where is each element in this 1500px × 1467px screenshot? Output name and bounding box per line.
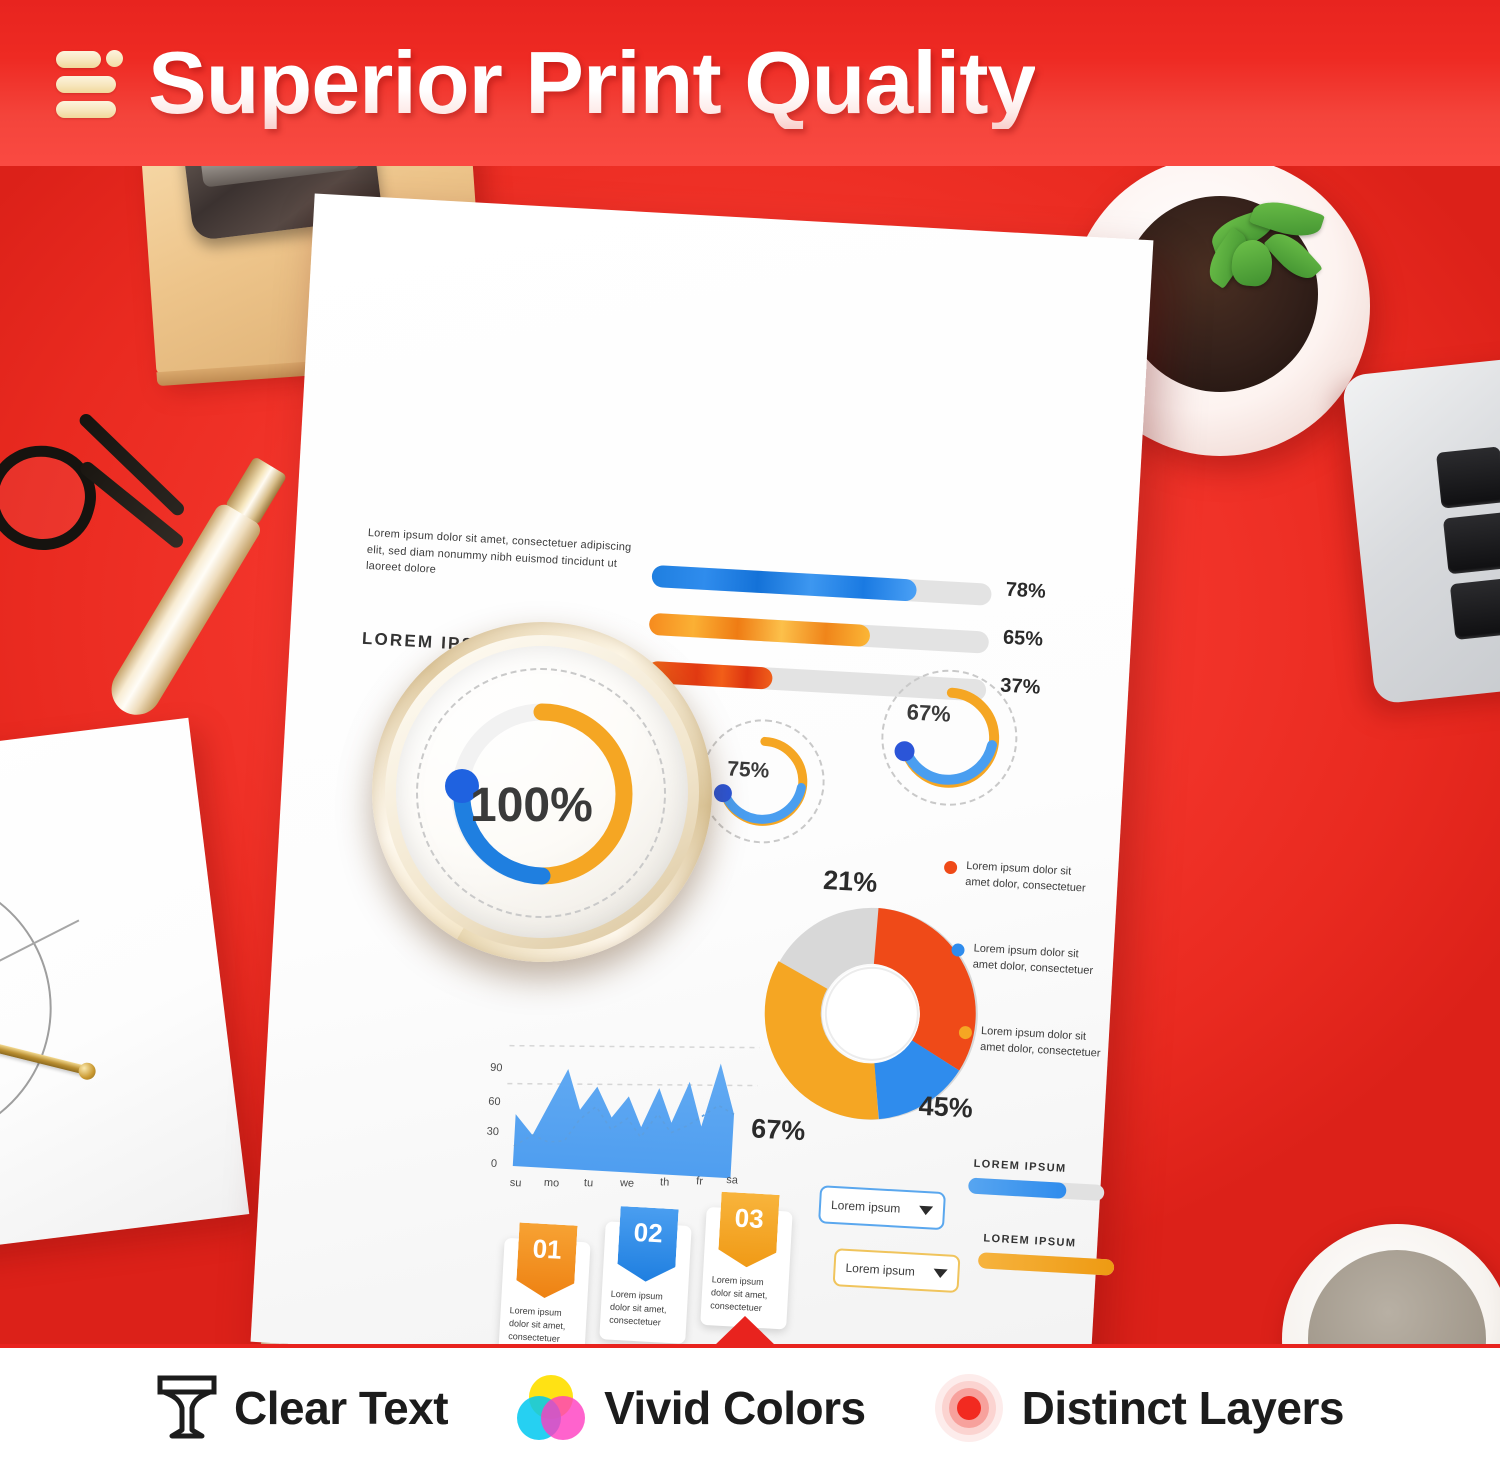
legend-color-swatch xyxy=(951,943,965,957)
concentric-rings-icon xyxy=(932,1371,1006,1445)
dropdown-lorem-amber[interactable]: Lorem ipsum xyxy=(833,1248,961,1293)
dropdown-lorem-blue[interactable]: Lorem ipsum xyxy=(818,1185,946,1230)
legend-color-swatch xyxy=(959,1026,973,1040)
text-t-icon xyxy=(156,1374,218,1442)
progress-bar-row xyxy=(651,565,992,606)
slider-track[interactable] xyxy=(978,1252,1115,1276)
step-card: 03 Lorem ipsum dolor sit amet, consectet… xyxy=(700,1207,792,1330)
dropdown-value: Lorem ipsum xyxy=(831,1198,901,1216)
svg-text:sa: sa xyxy=(726,1174,739,1187)
progress-bar-label: 65% xyxy=(1002,627,1043,652)
step-card-number: 03 xyxy=(718,1192,780,1269)
legend-item: Lorem ipsum dolor sit amet dolor, consec… xyxy=(958,1023,1110,1063)
weekly-area-chart: 90 60 30 0 su mo tu we th fr sa xyxy=(471,1004,782,1220)
coffee-cup xyxy=(1282,1224,1500,1348)
step-card-number: 02 xyxy=(617,1206,679,1283)
feature-label: Clear Text xyxy=(234,1381,448,1435)
svg-text:tu: tu xyxy=(584,1177,594,1189)
desk-photo-scene: Lorem ipsum dolor sit amet, consectetuer… xyxy=(0,166,1500,1348)
small-gauge-right-value: 67% xyxy=(906,699,951,727)
chevron-down-icon xyxy=(933,1268,947,1278)
slider-label: LOREM IPSUM xyxy=(973,1158,1067,1175)
slider-label: LOREM IPSUM xyxy=(983,1232,1077,1249)
plant-soil xyxy=(1122,196,1318,392)
svg-text:fr: fr xyxy=(696,1175,704,1187)
magnifier: 100% xyxy=(372,622,712,962)
dropdown-value: Lorem ipsum xyxy=(845,1261,915,1279)
donut-label-b: 45% xyxy=(918,1091,974,1125)
slider-track[interactable] xyxy=(968,1177,1105,1201)
cmyk-circles-icon xyxy=(514,1371,588,1445)
sheet-body-text: Lorem ipsum dolor sit amet, consectetuer… xyxy=(366,525,640,590)
slider-fill xyxy=(968,1177,1067,1198)
slider-fill xyxy=(978,1252,1115,1276)
step-card-text: Lorem ipsum dolor sit amet, consectetuer xyxy=(710,1273,782,1316)
step-card: 01 Lorem ipsum dolor sit amet, consectet… xyxy=(498,1238,590,1348)
progress-bar-fill xyxy=(651,565,917,602)
small-gauge-right-chart xyxy=(888,677,1010,799)
promo-image: Superior Print Quality xyxy=(0,0,1500,1467)
svg-text:we: we xyxy=(619,1177,635,1190)
feature-clear-text: Clear Text xyxy=(156,1374,448,1442)
legend-label: Lorem ipsum dolor sit amet dolor, consec… xyxy=(972,941,1102,980)
feature-vivid-colors: Vivid Colors xyxy=(514,1371,866,1445)
svg-text:60: 60 xyxy=(488,1096,501,1109)
feature-label: Distinct Layers xyxy=(1022,1381,1344,1435)
progress-bar-label: 78% xyxy=(1005,579,1046,604)
compass-arc xyxy=(0,858,67,1159)
step-card-text: Lorem ipsum dolor sit amet, consectetuer xyxy=(508,1304,580,1347)
feature-distinct-layers: Distinct Layers xyxy=(932,1371,1344,1445)
feature-label: Vivid Colors xyxy=(604,1381,866,1435)
step-card-text: Lorem ipsum dolor sit amet, consectetuer xyxy=(609,1288,681,1331)
step-card-number: 01 xyxy=(515,1222,577,1299)
svg-text:0: 0 xyxy=(491,1158,498,1170)
step-card: 02 Lorem ipsum dolor sit amet, consectet… xyxy=(599,1221,691,1344)
svg-text:su: su xyxy=(509,1177,521,1190)
svg-text:th: th xyxy=(660,1176,670,1188)
header-banner: Superior Print Quality xyxy=(0,0,1500,166)
chevron-down-icon xyxy=(919,1205,933,1215)
page-title: Superior Print Quality xyxy=(148,37,1035,129)
svg-text:90: 90 xyxy=(490,1062,503,1075)
laptop xyxy=(1341,349,1500,704)
magnified-gauge-value: 100% xyxy=(470,778,593,833)
feature-bar: Clear Text Vivid Colors Distinct Layers xyxy=(0,1348,1500,1467)
svg-text:30: 30 xyxy=(486,1126,499,1139)
legend-label: Lorem ipsum dolor sit amet dolor, consec… xyxy=(980,1024,1110,1063)
compass-paper xyxy=(0,718,249,1254)
magnifier-lens: 100% xyxy=(396,646,688,938)
legend-label: Lorem ipsum dolor sit amet dolor, consec… xyxy=(965,859,1095,898)
small-gauge-left-value: 75% xyxy=(727,757,770,783)
legend-color-swatch xyxy=(944,861,958,875)
stacked-bars-icon xyxy=(56,49,122,121)
legend-item: Lorem ipsum dolor sit amet dolor, consec… xyxy=(943,858,1095,898)
donut-label-a: 21% xyxy=(822,865,878,899)
svg-text:mo: mo xyxy=(544,1177,560,1190)
